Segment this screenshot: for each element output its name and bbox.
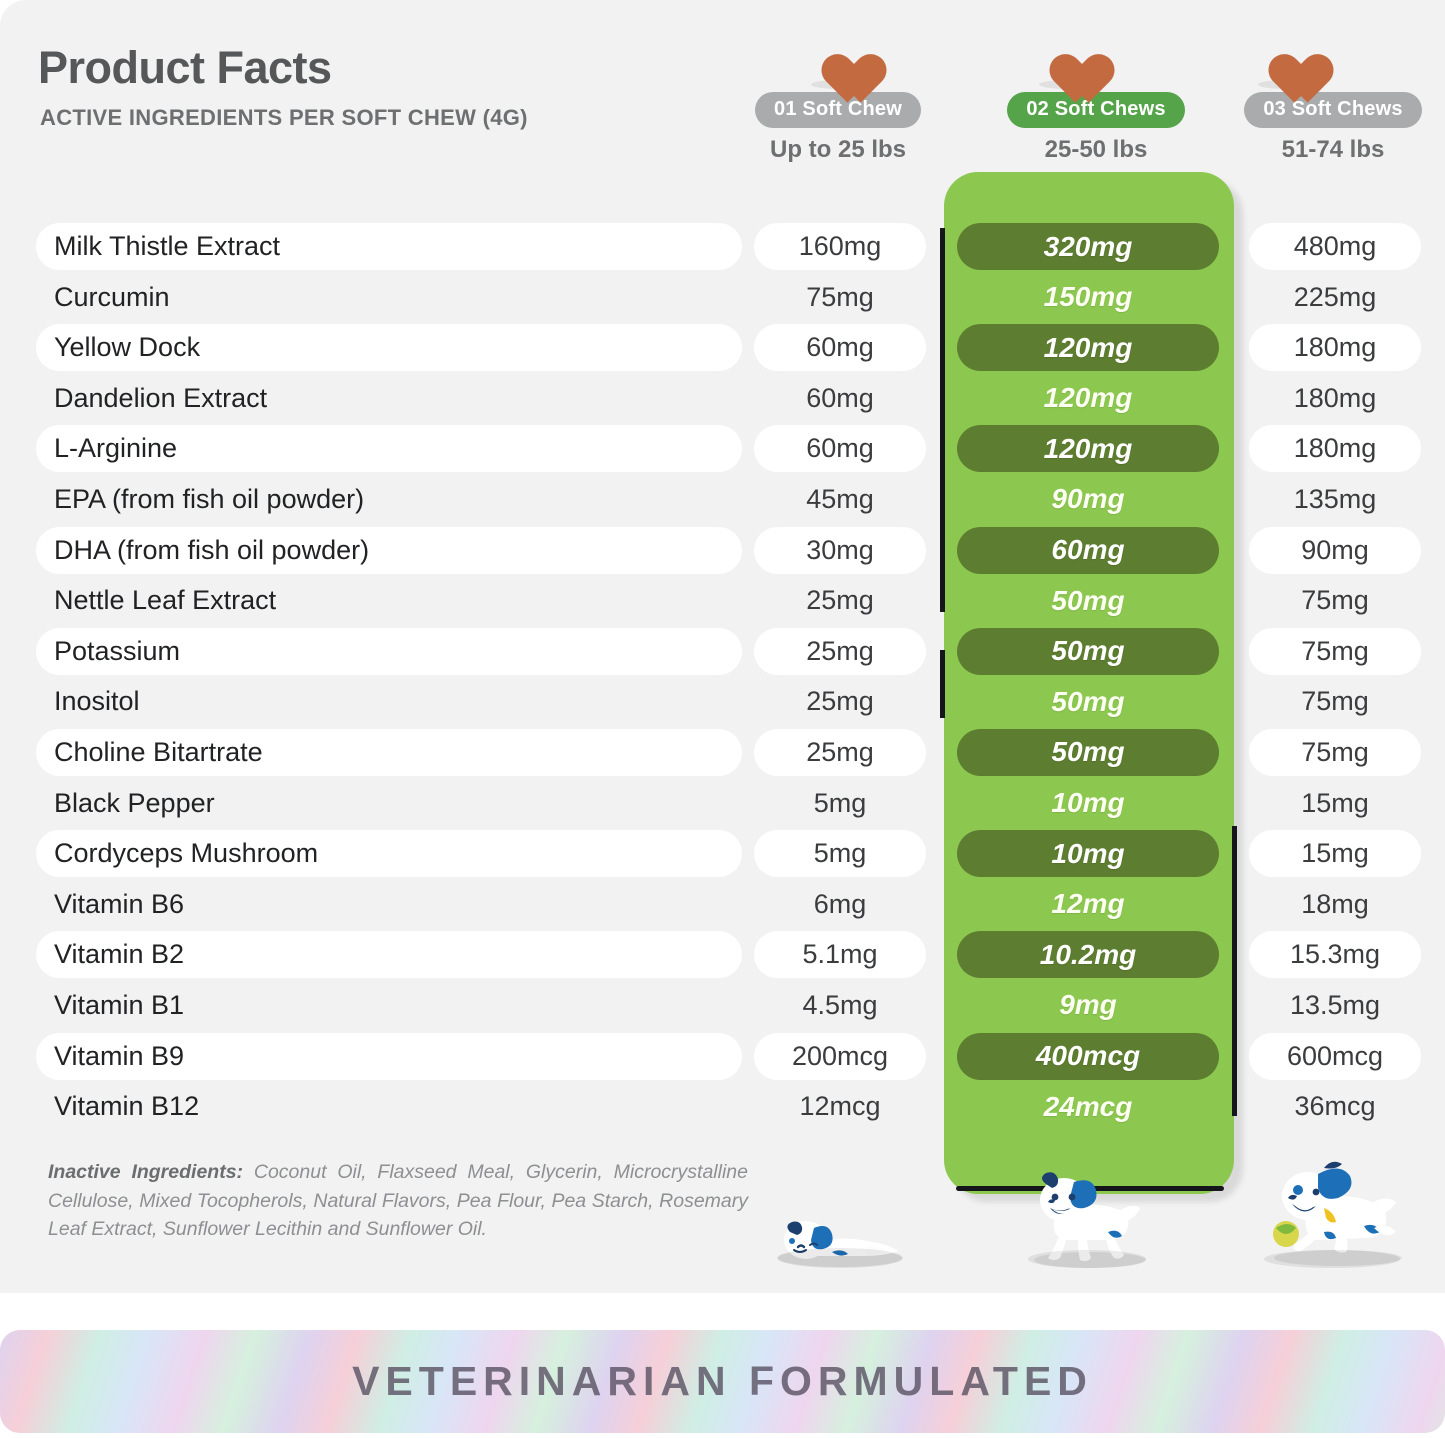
ingredient-name: EPA (from fish oil powder) <box>36 476 742 523</box>
dose-value-column-2: 10.2mg <box>957 931 1219 978</box>
dose-value-column-2: 24mcg <box>957 1083 1219 1130</box>
dose-value-column-2: 10mg <box>957 830 1219 877</box>
dose-badge-3: 03 Soft Chews <box>1244 92 1421 128</box>
table-row: Milk Thistle Extract160mg320mg480mg <box>0 221 1445 272</box>
chew-icon-group-1 <box>723 22 953 92</box>
ingredient-name: DHA (from fish oil powder) <box>36 527 742 574</box>
dose-value-column-3: 75mg <box>1249 577 1421 624</box>
dose-value-column-3: 13.5mg <box>1249 982 1421 1029</box>
dose-value-column-3: 15.3mg <box>1249 931 1421 978</box>
dose-value-column-2: 150mg <box>957 274 1219 321</box>
table-row: Vitamin B66mg12mg18mg <box>0 879 1445 930</box>
inactive-ingredients: Inactive Ingredients: Coconut Oil, Flaxs… <box>48 1158 748 1244</box>
dose-value-column-3: 180mg <box>1249 375 1421 422</box>
dose-value-column-3: 180mg <box>1249 324 1421 371</box>
running-dog-with-ball-icon <box>1252 1156 1412 1268</box>
table-row: L-Arginine60mg120mg180mg <box>0 423 1445 474</box>
ingredient-name: Vitamin B6 <box>36 881 742 928</box>
table-row: Yellow Dock60mg120mg180mg <box>0 322 1445 373</box>
dose-value-column-1: 5mg <box>754 780 926 827</box>
ingredient-name: L-Arginine <box>36 425 742 472</box>
product-facts-card: Product Facts ACTIVE INGREDIENTS PER SOF… <box>0 0 1445 1293</box>
dose-value-column-3: 75mg <box>1249 628 1421 675</box>
dose-value-column-1: 25mg <box>754 577 926 624</box>
dose-value-column-1: 45mg <box>754 476 926 523</box>
dose-badge-2: 02 Soft Chews <box>1007 92 1184 128</box>
dose-value-column-1: 5mg <box>754 830 926 877</box>
dose-value-column-3: 18mg <box>1249 881 1421 928</box>
dose-value-column-2: 120mg <box>957 375 1219 422</box>
ingredient-name: Curcumin <box>36 274 742 321</box>
inactive-ingredients-label: Inactive Ingredients: <box>48 1161 243 1183</box>
ingredient-name: Vitamin B2 <box>36 931 742 978</box>
dose-value-column-1: 12mcg <box>754 1083 926 1130</box>
dose-weight-3: 51-74 lbs <box>1218 136 1445 164</box>
table-row: Nettle Leaf Extract25mg50mg75mg <box>0 575 1445 626</box>
table-row: Curcumin75mg150mg225mg <box>0 272 1445 323</box>
table-row: Choline Bitartrate25mg50mg75mg <box>0 727 1445 778</box>
ingredient-name: Inositol <box>36 678 742 725</box>
ingredients-table: Milk Thistle Extract160mg320mg480mgCurcu… <box>0 221 1445 1132</box>
dose-value-column-1: 60mg <box>754 324 926 371</box>
page-subtitle: ACTIVE INGREDIENTS PER SOFT CHEW (4G) <box>40 105 528 131</box>
standing-dog-icon <box>1022 1168 1152 1268</box>
table-row: Vitamin B25.1mg10.2mg15.3mg <box>0 929 1445 980</box>
dose-value-column-2: 320mg <box>957 223 1219 270</box>
dose-value-column-3: 480mg <box>1249 223 1421 270</box>
dose-value-column-1: 25mg <box>754 628 926 675</box>
ingredient-name: Black Pepper <box>36 780 742 827</box>
dose-value-column-2: 9mg <box>957 982 1219 1029</box>
lying-dog-icon <box>770 1198 910 1268</box>
ingredient-name: Yellow Dock <box>36 324 742 371</box>
dose-weight-2: 25-50 lbs <box>981 136 1211 164</box>
dose-value-column-1: 160mg <box>754 223 926 270</box>
dose-value-column-2: 50mg <box>957 678 1219 725</box>
dose-value-column-2: 50mg <box>957 628 1219 675</box>
table-row: Vitamin B14.5mg9mg13.5mg <box>0 980 1445 1031</box>
page-title: Product Facts <box>38 42 332 94</box>
ingredient-name: Choline Bitartrate <box>36 729 742 776</box>
ingredient-name: Milk Thistle Extract <box>36 223 742 270</box>
ingredient-name: Cordyceps Mushroom <box>36 830 742 877</box>
dose-value-column-3: 36mcg <box>1249 1083 1421 1130</box>
dose-value-column-1: 60mg <box>754 375 926 422</box>
dose-value-column-1: 200mcg <box>754 1033 926 1080</box>
veterinarian-formulated-banner: VETERINARIAN FORMULATED <box>0 1330 1445 1433</box>
dose-value-column-3: 15mg <box>1249 830 1421 877</box>
ingredient-name: Vitamin B12 <box>36 1083 742 1130</box>
product-facts-infographic: Product Facts ACTIVE INGREDIENTS PER SOF… <box>0 0 1445 1438</box>
dose-value-column-1: 6mg <box>754 881 926 928</box>
dose-value-column-2: 10mg <box>957 780 1219 827</box>
dose-value-column-1: 4.5mg <box>754 982 926 1029</box>
dose-value-column-2: 60mg <box>957 527 1219 574</box>
dose-value-column-3: 75mg <box>1249 678 1421 725</box>
dose-value-column-1: 5.1mg <box>754 931 926 978</box>
dose-weight-1: Up to 25 lbs <box>723 136 953 164</box>
dose-value-column-1: 75mg <box>754 274 926 321</box>
dose-value-column-1: 25mg <box>754 678 926 725</box>
banner-text: VETERINARIAN FORMULATED <box>0 1330 1445 1433</box>
dose-value-column-3: 75mg <box>1249 729 1421 776</box>
table-row: Vitamin B1212mcg24mcg36mcg <box>0 1081 1445 1132</box>
dose-column-header-2: 02 Soft Chews 25-50 lbs <box>981 22 1211 164</box>
table-row: EPA (from fish oil powder)45mg90mg135mg <box>0 474 1445 525</box>
table-row: Potassium25mg50mg75mg <box>0 626 1445 677</box>
soft-chew-icon <box>807 30 869 85</box>
chew-icon-group-3 <box>1218 22 1445 92</box>
table-row: Black Pepper5mg10mg15mg <box>0 778 1445 829</box>
dose-value-column-3: 225mg <box>1249 274 1421 321</box>
dose-value-column-3: 90mg <box>1249 527 1421 574</box>
soft-chew-icon <box>1254 30 1316 85</box>
dose-value-column-1: 30mg <box>754 527 926 574</box>
dose-value-column-2: 90mg <box>957 476 1219 523</box>
dose-value-column-3: 600mcg <box>1249 1033 1421 1080</box>
table-row: Inositol25mg50mg75mg <box>0 676 1445 727</box>
soft-chew-icon <box>1342 30 1404 85</box>
dose-column-header-3: 03 Soft Chews 51-74 lbs <box>1218 22 1445 164</box>
dose-value-column-2: 50mg <box>957 577 1219 624</box>
dose-value-column-1: 25mg <box>754 729 926 776</box>
dose-value-column-2: 120mg <box>957 425 1219 472</box>
ingredient-name: Vitamin B1 <box>36 982 742 1029</box>
soft-chew-icon <box>1035 30 1097 85</box>
dose-badge-1: 01 Soft Chew <box>755 92 921 128</box>
table-row: DHA (from fish oil powder)30mg60mg90mg <box>0 525 1445 576</box>
table-row: Vitamin B9200mcg400mcg600mcg <box>0 1031 1445 1082</box>
ingredient-name: Dandelion Extract <box>36 375 742 422</box>
dose-value-column-2: 400mcg <box>957 1033 1219 1080</box>
ingredient-name: Nettle Leaf Extract <box>36 577 742 624</box>
ingredient-name: Potassium <box>36 628 742 675</box>
table-row: Dandelion Extract60mg120mg180mg <box>0 373 1445 424</box>
dose-value-column-2: 12mg <box>957 881 1219 928</box>
ingredient-name: Vitamin B9 <box>36 1033 742 1080</box>
dose-value-column-1: 60mg <box>754 425 926 472</box>
chew-icon-group-2 <box>981 22 1211 92</box>
dose-column-header-1: 01 Soft Chew Up to 25 lbs <box>723 22 953 164</box>
dose-value-column-3: 180mg <box>1249 425 1421 472</box>
dose-value-column-2: 120mg <box>957 324 1219 371</box>
table-row: Cordyceps Mushroom5mg10mg15mg <box>0 828 1445 879</box>
dose-value-column-3: 15mg <box>1249 780 1421 827</box>
dose-value-column-2: 50mg <box>957 729 1219 776</box>
dose-value-column-3: 135mg <box>1249 476 1421 523</box>
